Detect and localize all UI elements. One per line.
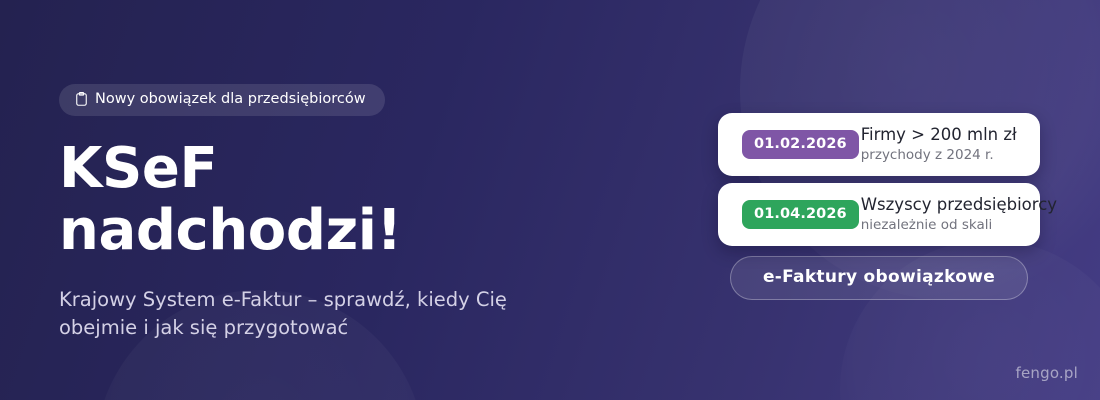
- page-title: KSeF nadchodzi!: [59, 138, 619, 263]
- date-badge: 01.02.2026: [742, 130, 859, 160]
- timeline-card-text: Wszyscy przedsiębiorcy niezależnie od sk…: [861, 196, 1026, 234]
- timeline-card: 01.04.2026 Wszyscy przedsiębiorcy niezal…: [718, 183, 1040, 246]
- date-badge: 01.04.2026: [742, 200, 859, 230]
- watermark: fengo.pl: [1015, 364, 1078, 382]
- hero-banner: Nowy obowiązek dla przedsiębiorców KSeF …: [0, 0, 1100, 400]
- timeline-card-title: Wszyscy przedsiębiorcy: [861, 196, 1026, 215]
- new-obligation-badge: Nowy obowiązek dla przedsiębiorców: [59, 84, 385, 116]
- clipboard-icon: [76, 92, 87, 106]
- timeline-card-subtitle: niezależnie od skali: [861, 217, 1026, 234]
- timeline-panel: 01.02.2026 Firmy > 200 mln zł przychody …: [718, 113, 1040, 300]
- headline-line-2: nadchodzi!: [59, 198, 402, 263]
- timeline-card: 01.02.2026 Firmy > 200 mln zł przychody …: [718, 113, 1040, 176]
- hero-subtitle: Krajowy System e-Faktur – sprawdź, kiedy…: [59, 286, 539, 341]
- hero-left-column: Nowy obowiązek dla przedsiębiorców KSeF …: [59, 84, 619, 341]
- headline-line-1: KSeF: [59, 136, 217, 201]
- timeline-card-title: Firmy > 200 mln zł: [861, 126, 1017, 145]
- timeline-card-text: Firmy > 200 mln zł przychody z 2024 r.: [861, 126, 1017, 164]
- new-obligation-badge-label: Nowy obowiązek dla przedsiębiorców: [95, 92, 366, 107]
- timeline-card-subtitle: przychody z 2024 r.: [861, 147, 1017, 164]
- e-invoices-mandatory-button[interactable]: e-Faktury obowiązkowe: [730, 256, 1028, 300]
